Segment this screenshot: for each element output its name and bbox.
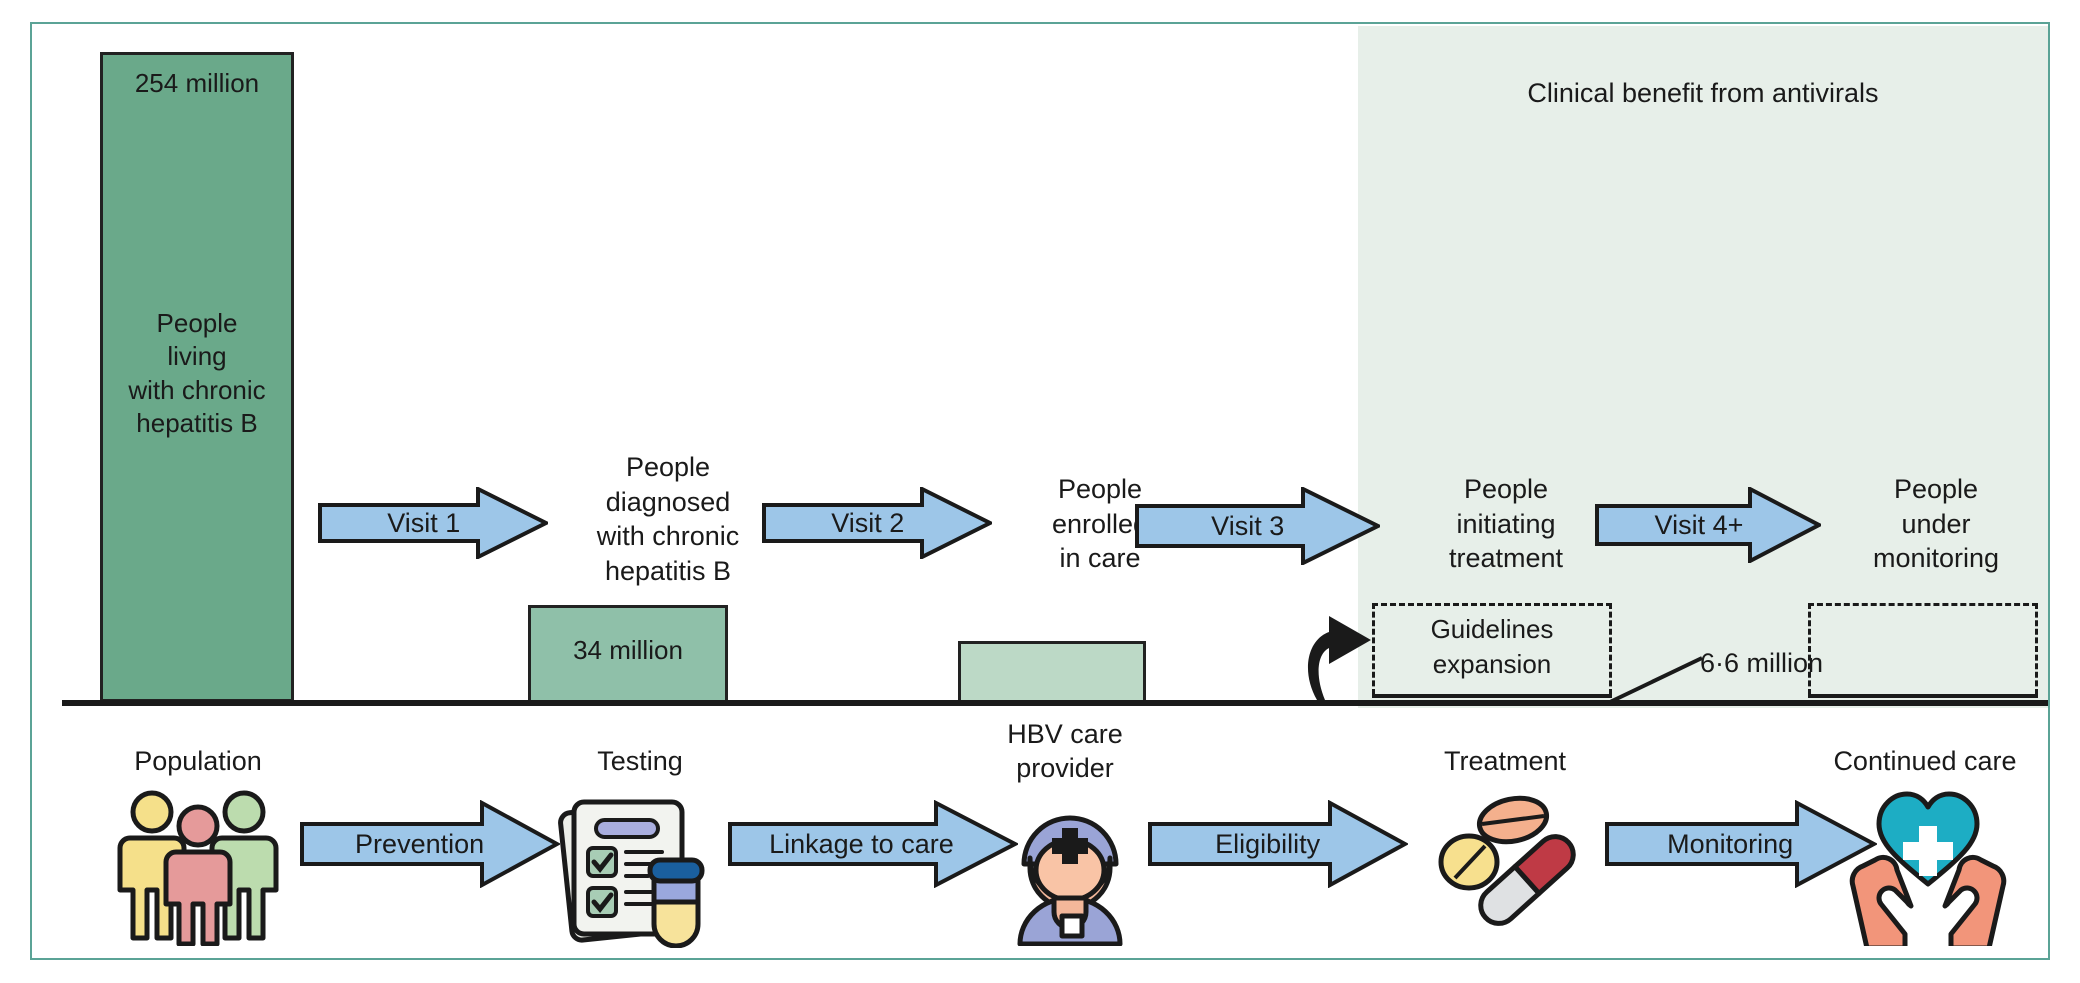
bar-value-label-254: 254 million <box>103 67 291 100</box>
pathway-label-hbv-care-provider: HBV care provider <box>955 718 1175 786</box>
visit-4-plus-arrow: Visit 4+ <box>1595 487 1821 563</box>
monitoring-placeholder-box-floor <box>1808 694 2038 698</box>
visit-2-arrow: Visit 2 <box>762 487 992 559</box>
people-group-icon <box>108 786 288 946</box>
clinical-benefit-title: Clinical benefit from antivirals <box>1358 78 2048 109</box>
guidelines-expansion-box-floor <box>1372 694 1612 698</box>
test-form-icon <box>558 788 718 948</box>
pathway-arrow-eligibility-label: Eligibility <box>1215 829 1341 860</box>
pathway-label-continued-care: Continued care <box>1800 745 2050 779</box>
pathway-arrow-prevention-label: Prevention <box>355 829 505 860</box>
visit-3-arrow: Visit 3 <box>1135 487 1380 565</box>
stage-caption-diagnosed: People diagnosed with chronic hepatitis … <box>548 450 788 588</box>
guidelines-expansion-label-line1: Guidelines <box>1372 613 1612 647</box>
figure-canvas: Clinical benefit from antivirals 254 mil… <box>0 0 2080 983</box>
visit-1-label: Visit 1 <box>387 508 478 539</box>
heart-in-hands-icon <box>1845 788 2011 946</box>
health-worker-icon <box>1000 798 1140 946</box>
visit-3-label: Visit 3 <box>1211 511 1304 542</box>
pathway-arrow-monitoring: Monitoring <box>1605 800 1877 888</box>
visit-2-label: Visit 2 <box>831 508 922 539</box>
cascade-baseline <box>62 700 2048 706</box>
stage-caption-initiating-treatment: People initiating treatment <box>1400 472 1612 576</box>
bar-people-diagnosed: 34 million <box>528 605 728 703</box>
bar-value-label-34: 34 million <box>531 634 725 667</box>
pathway-arrow-linkage-to-care: Linkage to care <box>728 800 1018 888</box>
bar-caption-plwhb: People living with chronic hepatitis B <box>103 307 291 440</box>
pathway-arrow-prevention: Prevention <box>300 800 560 888</box>
guidelines-expansion-label-line2: expansion <box>1372 648 1612 682</box>
bar-people-enrolled-in-care <box>958 641 1146 703</box>
pills-icon <box>1435 792 1585 932</box>
pathway-arrow-monitoring-label: Monitoring <box>1667 829 1815 860</box>
callout-leader-line <box>1608 656 1704 704</box>
visit-4-plus-label: Visit 4+ <box>1655 510 1762 541</box>
bar-people-living-with-chronic-hbv: 254 million People living with chronic h… <box>100 52 294 702</box>
pathway-label-population: Population <box>88 745 308 779</box>
pathway-arrow-linkage-label: Linkage to care <box>769 829 977 860</box>
pathway-label-treatment: Treatment <box>1395 745 1615 779</box>
visit-1-arrow: Visit 1 <box>318 487 548 559</box>
guidelines-expansion-curved-arrow <box>1303 610 1383 702</box>
stage-caption-under-monitoring: People under monitoring <box>1830 472 2042 576</box>
pathway-label-testing: Testing <box>525 745 755 779</box>
pathway-arrow-eligibility: Eligibility <box>1148 800 1408 888</box>
callout-6-6-million: 6·6 million <box>1700 648 1823 679</box>
monitoring-placeholder-box <box>1808 603 2038 695</box>
